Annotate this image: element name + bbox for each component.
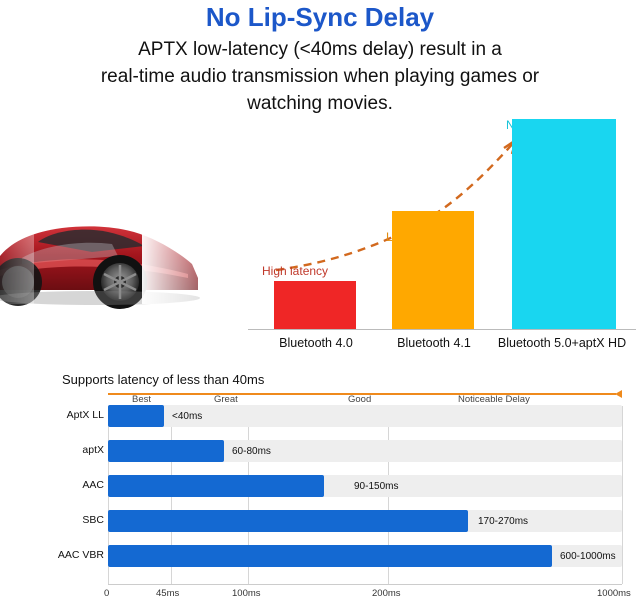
row-label-sbc: SBC — [52, 514, 104, 526]
sports-car-illustration — [0, 182, 232, 327]
bar-bluetooth-50-aptxhd — [512, 119, 616, 329]
scale-label-good: Good — [348, 394, 371, 405]
row-bar-sbc — [108, 510, 468, 532]
row-bar-aptx — [108, 440, 224, 462]
x-tick-200ms: 200ms — [372, 588, 401, 599]
row-label-aptx-ll: AptX LL — [52, 409, 104, 421]
page-title: No Lip-Sync Delay — [0, 2, 640, 33]
bar-bluetooth-40 — [274, 281, 356, 329]
table-row: 600-1000ms — [108, 545, 622, 567]
annotation-high-latency: High latency — [262, 264, 328, 278]
row-label-aac: AAC — [52, 479, 104, 491]
bar-label-bluetooth-41: Bluetooth 4.1 — [376, 336, 492, 350]
grid-line-1000ms — [622, 406, 623, 584]
row-bar-aac-vbr — [108, 545, 552, 567]
row-bar-aptx-ll — [108, 405, 164, 427]
bar-bluetooth-41 — [392, 211, 474, 329]
latency-support-panel: Supports latency of less than 40ms Best … — [52, 372, 630, 610]
x-axis-line — [108, 584, 622, 585]
x-tick-45ms: 45ms — [156, 588, 179, 599]
row-value-aac: 90-150ms — [354, 481, 398, 492]
x-tick-100ms: 100ms — [232, 588, 261, 599]
table-row: <40ms — [108, 405, 622, 427]
scale-label-best: Best — [132, 394, 151, 405]
table-row: 170-270ms — [108, 510, 622, 532]
page-subtitle: APTX low-latency (<40ms delay) result in… — [0, 36, 640, 117]
row-value-aac-vbr: 600-1000ms — [560, 551, 616, 562]
row-label-aac-vbr: AAC VBR — [52, 549, 104, 561]
bar-label-bluetooth-40: Bluetooth 4.0 — [256, 336, 376, 350]
quality-scale-arrow-head — [615, 390, 622, 398]
table-row: 90-150ms — [108, 475, 622, 497]
x-tick-1000ms: 1000ms — [597, 588, 631, 599]
row-label-aptx: aptX — [52, 444, 104, 456]
subtitle-line-2: real-time audio transmission when playin… — [0, 63, 640, 90]
scale-label-noticeable-delay: Noticeable Delay — [458, 394, 530, 405]
bar-label-bluetooth-50-aptxhd: Bluetooth 5.0+aptX HD — [488, 336, 636, 350]
x-tick-0: 0 — [104, 588, 109, 599]
latency-comparison-bar-chart: High latency Low latency No Latency+HD B… — [248, 112, 636, 352]
bar-chart-baseline — [248, 329, 636, 330]
scale-label-great: Great — [214, 394, 238, 405]
row-bar-aac — [108, 475, 324, 497]
row-value-sbc: 170-270ms — [478, 516, 528, 527]
row-value-aptx-ll: <40ms — [172, 411, 202, 422]
table-row: 60-80ms — [108, 440, 622, 462]
row-value-aptx: 60-80ms — [232, 446, 271, 457]
panel-title: Supports latency of less than 40ms — [62, 372, 264, 387]
subtitle-line-1: APTX low-latency (<40ms delay) result in… — [0, 36, 640, 63]
